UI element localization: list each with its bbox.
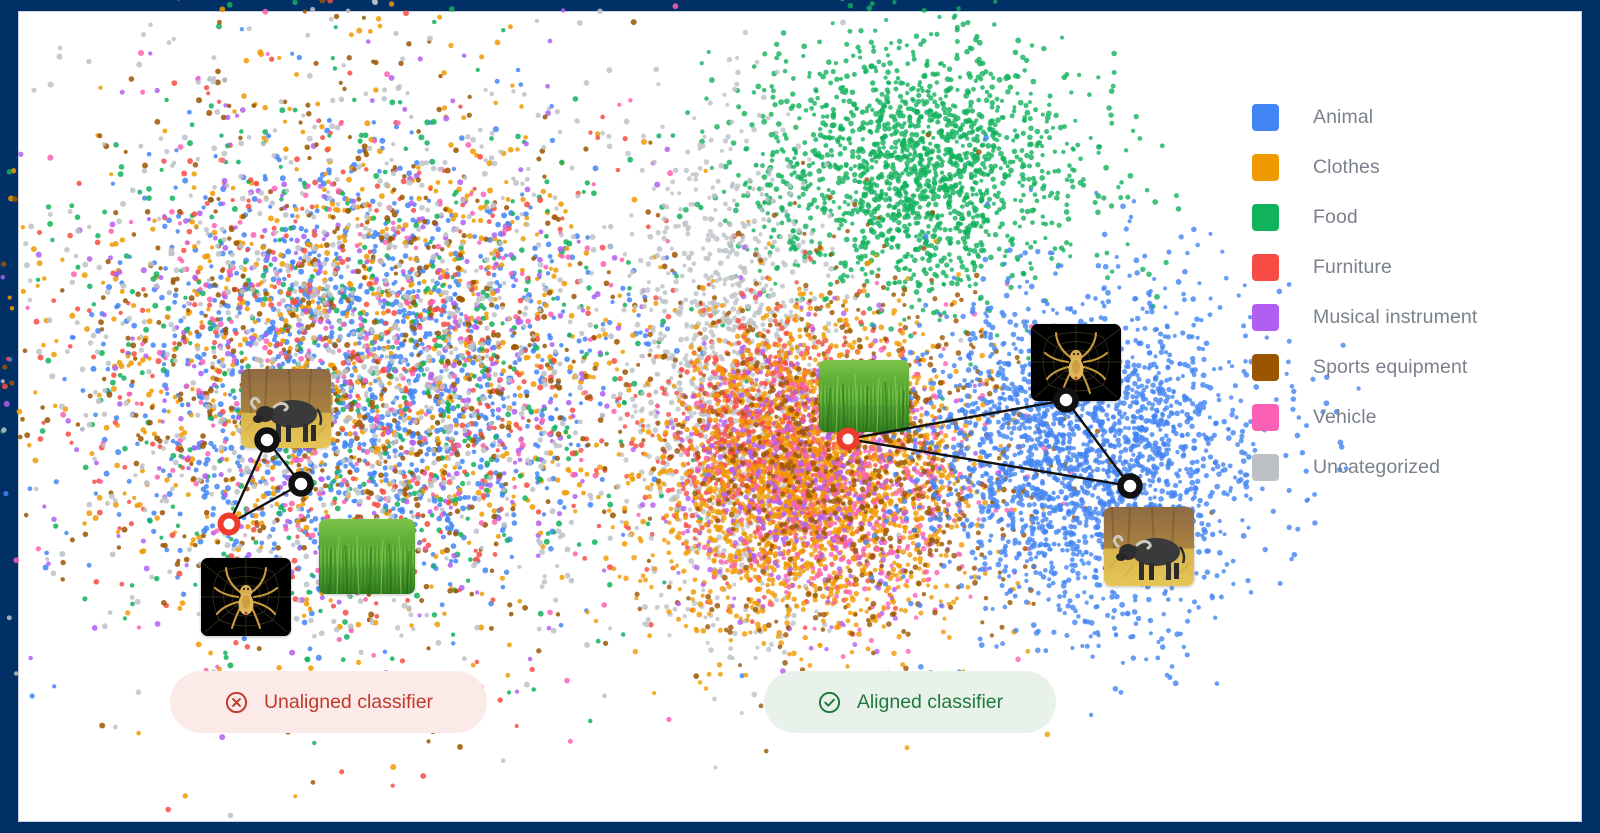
figure-canvas: Animal Clothes Food Furniture Musical in… (19, 12, 1581, 821)
legend-item-vehicle[interactable]: Vehicle (1252, 392, 1552, 442)
unaligned-classifier-label: Unaligned classifier (264, 691, 433, 714)
legend-item-label: Uncategorized (1313, 456, 1440, 479)
grass-thumbnail[interactable] (319, 519, 415, 594)
outer-card: Animal Clothes Food Furniture Musical in… (18, 11, 1582, 822)
legend-item-clothes[interactable]: Clothes (1252, 142, 1552, 192)
legend-swatch-icon (1252, 354, 1279, 381)
legend-swatch-icon (1252, 254, 1279, 281)
legend-item-label: Vehicle (1313, 406, 1377, 429)
legend-swatch-icon (1252, 104, 1279, 131)
legend-item-label: Sports equipment (1313, 356, 1467, 379)
legend-swatch-icon (1252, 304, 1279, 331)
aligned-classifier-label: Aligned classifier (857, 691, 1003, 714)
legend-item-food[interactable]: Food (1252, 192, 1552, 242)
legend-item-label: Clothes (1313, 156, 1380, 179)
legend-item-uncategorized[interactable]: Uncategorized (1252, 442, 1552, 492)
buffalo-thumbnail[interactable] (241, 369, 331, 448)
grass-thumbnail[interactable] (819, 360, 909, 432)
spider-thumbnail[interactable] (1031, 324, 1121, 401)
legend-swatch-icon (1252, 204, 1279, 231)
legend-item-label: Food (1313, 206, 1358, 229)
spider-thumbnail[interactable] (201, 558, 291, 636)
legend-swatch-icon (1252, 454, 1279, 481)
legend-swatch-icon (1252, 404, 1279, 431)
legend-item-label: Animal (1313, 106, 1373, 129)
legend-swatch-icon (1252, 154, 1279, 181)
buffalo-thumbnail[interactable] (1104, 507, 1194, 586)
legend-item-label: Musical instrument (1313, 306, 1477, 329)
aligned-classifier-badge[interactable]: Aligned classifier (764, 671, 1056, 733)
category-legend: Animal Clothes Food Furniture Musical in… (1252, 92, 1552, 492)
legend-item-musical-instrument[interactable]: Musical instrument (1252, 292, 1552, 342)
legend-item-label: Furniture (1313, 256, 1392, 279)
circle-check-icon (817, 690, 842, 715)
legend-item-sports-equipment[interactable]: Sports equipment (1252, 342, 1552, 392)
legend-item-furniture[interactable]: Furniture (1252, 242, 1552, 292)
legend-item-animal[interactable]: Animal (1252, 92, 1552, 142)
unaligned-classifier-badge[interactable]: Unaligned classifier (170, 671, 487, 733)
circle-x-icon (224, 690, 249, 715)
